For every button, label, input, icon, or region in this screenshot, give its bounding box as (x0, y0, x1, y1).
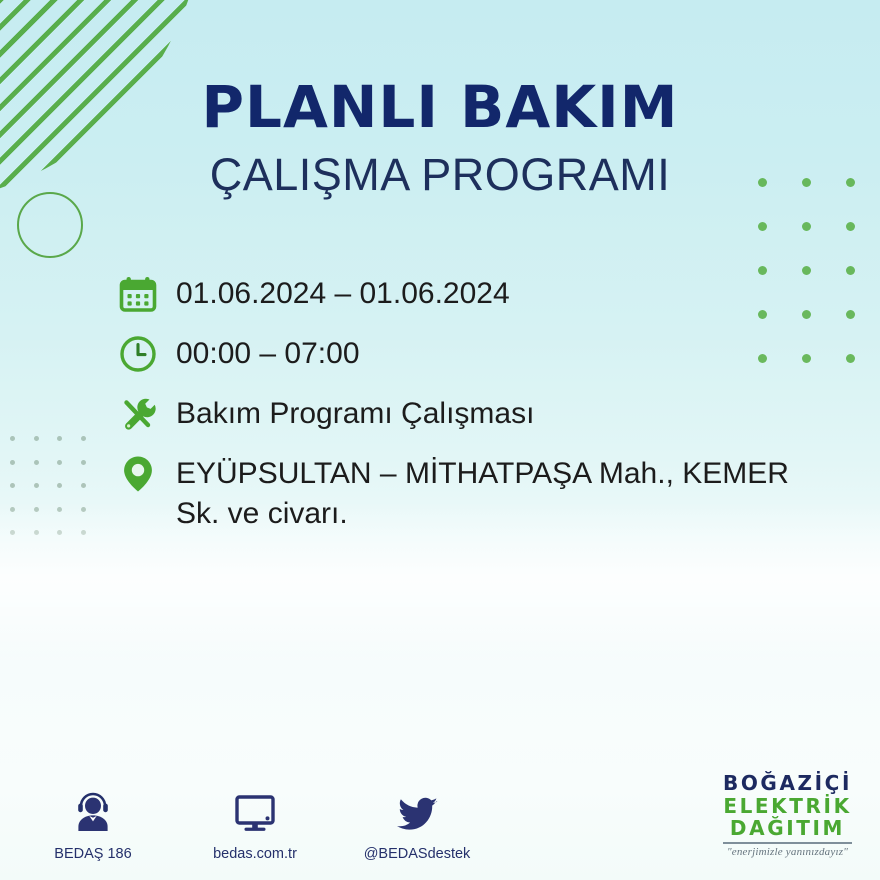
decor-dot (10, 507, 15, 512)
outage-details-list: 01.06.2024 – 01.06.2024 00:00 – 07:00 (118, 272, 848, 549)
contact-website-label: bedas.com.tr (196, 846, 314, 862)
page-subtitle: ÇALIŞMA PROGRAMI (0, 152, 880, 197)
clock-icon (118, 332, 176, 376)
decor-dot (10, 460, 15, 465)
contact-phone-label: BEDAŞ 186 (34, 846, 152, 862)
decor-dot (34, 460, 39, 465)
detail-row-time: 00:00 – 07:00 (118, 332, 848, 376)
decor-dot (10, 530, 15, 535)
decor-dot (81, 483, 86, 488)
detail-row-date: 01.06.2024 – 01.06.2024 (118, 272, 848, 316)
detail-location-text: EYÜPSULTAN – MİTHATPAŞA Mah., KEMER Sk. … (176, 452, 836, 533)
outline-circle-decor (17, 192, 83, 258)
detail-date-text: 01.06.2024 – 01.06.2024 (176, 272, 510, 314)
contact-website[interactable]: bedas.com.tr (196, 787, 314, 862)
decor-dot (34, 530, 39, 535)
brand-line-1: BOĞAZİÇİ (723, 772, 852, 794)
decor-dot (57, 436, 62, 441)
brand-line-2: ELEKTRİK (723, 795, 852, 817)
detail-row-location: EYÜPSULTAN – MİTHATPAŞA Mah., KEMER Sk. … (118, 452, 848, 533)
decor-dot (57, 460, 62, 465)
support-agent-icon (34, 787, 152, 837)
page-title-block: PLANLI BAKIM ÇALIŞMA PROGRAMI (0, 78, 880, 197)
tools-icon (118, 392, 176, 436)
decor-dot (846, 222, 855, 231)
contact-twitter-label: @BEDASdestek (358, 846, 476, 862)
decor-dot (81, 460, 86, 465)
decor-dot (81, 530, 86, 535)
decor-dot (10, 483, 15, 488)
decor-dot (34, 507, 39, 512)
decor-dot (34, 483, 39, 488)
detail-row-worktype: Bakım Programı Çalışması (118, 392, 848, 436)
decor-dot (10, 436, 15, 441)
contact-phone[interactable]: BEDAŞ 186 (34, 787, 152, 862)
poster-canvas: PLANLI BAKIM ÇALIŞMA PROGRAMI (0, 0, 880, 880)
monitor-icon (196, 787, 314, 837)
decor-dot (81, 436, 86, 441)
calendar-icon (118, 272, 176, 316)
decor-dot (758, 222, 767, 231)
detail-time-text: 00:00 – 07:00 (176, 332, 360, 374)
decor-dot (57, 483, 62, 488)
brand-tagline: "enerjimizle yanınızdayız" (723, 846, 852, 858)
twitter-bird-icon (358, 787, 476, 837)
detail-worktype-text: Bakım Programı Çalışması (176, 392, 534, 434)
contact-bar: BEDAŞ 186 bedas.com.tr @BEDASdestek (34, 787, 476, 862)
brand-line-3: DAĞITIM (723, 817, 852, 839)
brand-logo: BOĞAZİÇİ ELEKTRİK DAĞITIM "enerjimizle y… (723, 772, 852, 858)
contact-twitter[interactable]: @BEDASdestek (358, 787, 476, 862)
decor-dot (802, 222, 811, 231)
decor-dot (57, 507, 62, 512)
page-title: PLANLI BAKIM (0, 78, 880, 136)
location-pin-icon (118, 452, 176, 496)
brand-divider (723, 842, 852, 844)
decor-dot (81, 507, 86, 512)
decor-dot (57, 530, 62, 535)
decor-dot (34, 436, 39, 441)
